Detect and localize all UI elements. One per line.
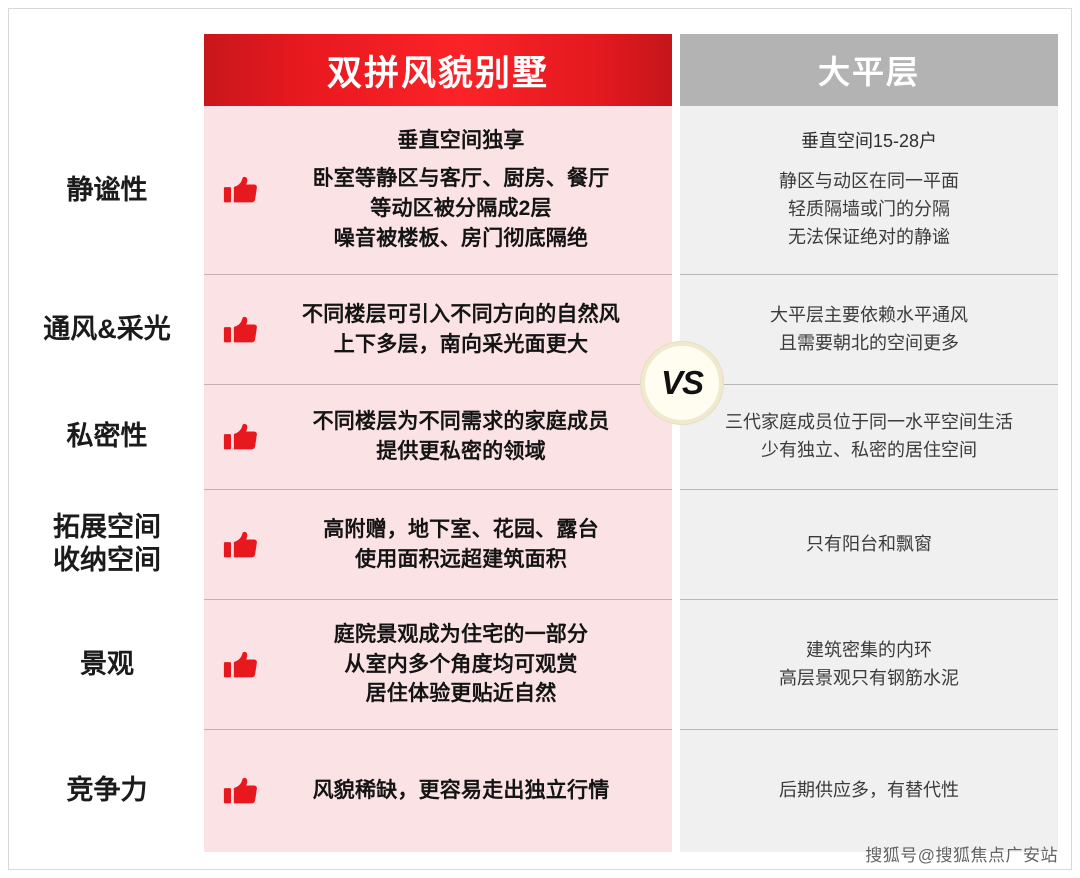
flat-cell-line: 且需要朝北的空间更多 [694,330,1044,358]
flat-cell: 建筑密集的内环高层景观只有钢筋水泥 [680,599,1058,729]
villa-cell-text: 不同楼层为不同需求的家庭成员提供更私密的领域 [264,407,658,467]
flat-cell-line: 只有阳台和飘窗 [694,531,1044,559]
flat-cell-text: 垂直空间15-28户静区与动区在同一平面轻质隔墙或门的分隔无法保证绝对的静谧 [694,128,1044,252]
villa-cell-line: 从室内多个角度均可观赏 [264,650,658,680]
flat-cell-line: 静区与动区在同一平面 [694,168,1044,196]
flat-cell-line: 高层景观只有钢筋水泥 [694,665,1044,693]
flat-cell-line: 少有独立、私密的居住空间 [694,437,1044,465]
criteria-label-line: 私密性 [67,420,148,453]
criteria-label-line: 景观 [80,648,134,681]
flat-cell: 后期供应多，有替代性 [680,729,1058,852]
villa-cell-lead: 垂直空间独享 [264,126,658,156]
villa-cell-inner: 庭院景观成为住宅的一部分从室内多个角度均可观赏居住体验更贴近自然 [204,620,672,709]
villa-cell-inner: 不同楼层可引入不同方向的自然风上下多层，南向采光面更大 [204,300,672,360]
criteria-label-line: 竞争力 [67,774,148,807]
flat-cell-text: 三代家庭成员位于同一水平空间生活少有独立、私密的居住空间 [694,409,1044,465]
villa-cell-inner: 高附赠，地下室、花园、露台使用面积远超建筑面积 [204,515,672,575]
flat-cell-inner: 只有阳台和飘窗 [680,531,1058,559]
criteria-label-text: 拓展空间收纳空间 [53,511,161,577]
criteria-label-text: 景观 [80,648,134,681]
criteria-label-text: 私密性 [67,420,148,453]
villa-cell-line: 噪音被楼板、房门彻底隔绝 [264,224,658,254]
flat-cell-text: 建筑密集的内环高层景观只有钢筋水泥 [694,637,1044,693]
flat-cell-inner: 三代家庭成员位于同一水平空间生活少有独立、私密的居住空间 [680,409,1058,465]
vs-badge: VS [641,342,723,424]
flat-cell-text: 大平层主要依赖水平通风且需要朝北的空间更多 [694,302,1044,358]
flat-cell-line: 后期供应多，有替代性 [694,777,1044,805]
villa-cell-line: 上下多层，南向采光面更大 [264,330,658,360]
villa-cell-inner: 风貌稀缺，更容易走出独立行情 [204,772,672,810]
villa-cell-text: 不同楼层可引入不同方向的自然风上下多层，南向采光面更大 [264,300,658,360]
column-villa: 双拼风貌别墅 垂直空间独享卧室等静区与客厅、厨房、餐厅等动区被分隔成2层噪音被楼… [204,34,672,852]
vs-badge-label: VS [661,364,703,402]
villa-cell-line: 不同楼层为不同需求的家庭成员 [264,407,658,437]
flat-cell-inner: 后期供应多，有替代性 [680,777,1058,805]
villa-cell-inner: 不同楼层为不同需求的家庭成员提供更私密的领域 [204,407,672,467]
column-villa-header: 双拼风貌别墅 [204,34,672,106]
flat-cell-line: 建筑密集的内环 [694,637,1044,665]
villa-cell-text: 垂直空间独享卧室等静区与客厅、厨房、餐厅等动区被分隔成2层噪音被楼板、房门彻底隔… [264,126,658,253]
criteria-label: 竞争力 [10,729,204,852]
thumbs-up-icon [222,646,260,684]
villa-cell-line: 使用面积远超建筑面积 [264,545,658,575]
comparison-infographic: 静谧性通风&采光私密性拓展空间收纳空间景观竞争力 双拼风貌别墅 垂直空间独享卧室… [0,0,1080,878]
villa-cell-line: 庭院景观成为住宅的一部分 [264,620,658,650]
watermark: 搜狐号@搜狐焦点广安站 [865,841,1058,866]
flat-cell: 垂直空间15-28户静区与动区在同一平面轻质隔墙或门的分隔无法保证绝对的静谧 [680,106,1058,274]
criteria-label-line: 通风&采光 [43,313,171,346]
flat-cell-inner: 大平层主要依赖水平通风且需要朝北的空间更多 [680,302,1058,358]
villa-cell: 垂直空间独享卧室等静区与客厅、厨房、餐厅等动区被分隔成2层噪音被楼板、房门彻底隔… [204,106,672,274]
villa-cell-line: 等动区被分隔成2层 [264,194,658,224]
thumbs-up-icon [222,772,260,810]
flat-cell-line: 大平层主要依赖水平通风 [694,302,1044,330]
villa-cell-text: 庭院景观成为住宅的一部分从室内多个角度均可观赏居住体验更贴近自然 [264,620,658,709]
column-flat-title: 大平层 [818,47,920,93]
criteria-label: 景观 [10,599,204,729]
villa-cell-line: 居住体验更贴近自然 [264,679,658,709]
criteria-label: 私密性 [10,384,204,489]
villa-cell: 不同楼层可引入不同方向的自然风上下多层，南向采光面更大 [204,274,672,384]
thumbs-up-icon [222,311,260,349]
villa-cell: 风貌稀缺，更容易走出独立行情 [204,729,672,852]
column-flat: 大平层 垂直空间15-28户静区与动区在同一平面轻质隔墙或门的分隔无法保证绝对的… [680,34,1058,852]
flat-cell-line: 轻质隔墙或门的分隔 [694,196,1044,224]
villa-cell: 庭院景观成为住宅的一部分从室内多个角度均可观赏居住体验更贴近自然 [204,599,672,729]
villa-cell-text: 高附赠，地下室、花园、露台使用面积远超建筑面积 [264,515,658,575]
thumbs-up-icon [222,418,260,456]
flat-cell: 大平层主要依赖水平通风且需要朝北的空间更多 [680,274,1058,384]
flat-cell: 三代家庭成员位于同一水平空间生活少有独立、私密的居住空间 [680,384,1058,489]
column-villa-body: 垂直空间独享卧室等静区与客厅、厨房、餐厅等动区被分隔成2层噪音被楼板、房门彻底隔… [204,106,672,852]
criteria-label: 通风&采光 [10,274,204,384]
criteria-label: 拓展空间收纳空间 [10,489,204,599]
villa-cell-line: 卧室等静区与客厅、厨房、餐厅 [264,164,658,194]
villa-cell-inner: 垂直空间独享卧室等静区与客厅、厨房、餐厅等动区被分隔成2层噪音被楼板、房门彻底隔… [204,126,672,253]
villa-cell-line: 不同楼层可引入不同方向的自然风 [264,300,658,330]
column-villa-title: 双拼风貌别墅 [327,45,549,96]
flat-cell-text: 只有阳台和飘窗 [694,531,1044,559]
criteria-label-line: 收纳空间 [53,544,161,577]
villa-cell: 不同楼层为不同需求的家庭成员提供更私密的领域 [204,384,672,489]
flat-cell-line: 三代家庭成员位于同一水平空间生活 [694,409,1044,437]
criteria-label-text: 静谧性 [67,174,148,207]
criteria-label-text: 竞争力 [67,774,148,807]
villa-cell-line: 提供更私密的领域 [264,437,658,467]
thumbs-up-icon [222,526,260,564]
criteria-label-text: 通风&采光 [43,313,171,346]
villa-cell: 高附赠，地下室、花园、露台使用面积远超建筑面积 [204,489,672,599]
column-flat-header: 大平层 [680,34,1058,106]
flat-cell-lead: 垂直空间15-28户 [694,128,1044,156]
flat-cell: 只有阳台和飘窗 [680,489,1058,599]
flat-cell-line: 无法保证绝对的静谧 [694,224,1044,252]
flat-cell-inner: 垂直空间15-28户静区与动区在同一平面轻质隔墙或门的分隔无法保证绝对的静谧 [680,128,1058,252]
criteria-label-line: 静谧性 [67,174,148,207]
criteria-label-column: 静谧性通风&采光私密性拓展空间收纳空间景观竞争力 [10,106,204,852]
column-flat-body: 垂直空间15-28户静区与动区在同一平面轻质隔墙或门的分隔无法保证绝对的静谧大平… [680,106,1058,852]
villa-cell-line: 风貌稀缺，更容易走出独立行情 [264,776,658,806]
flat-cell-inner: 建筑密集的内环高层景观只有钢筋水泥 [680,637,1058,693]
criteria-label: 静谧性 [10,106,204,274]
villa-cell-text: 风貌稀缺，更容易走出独立行情 [264,776,658,806]
thumbs-up-icon [222,171,260,209]
criteria-label-line: 拓展空间 [53,511,161,544]
villa-cell-line: 高附赠，地下室、花园、露台 [264,515,658,545]
flat-cell-text: 后期供应多，有替代性 [694,777,1044,805]
